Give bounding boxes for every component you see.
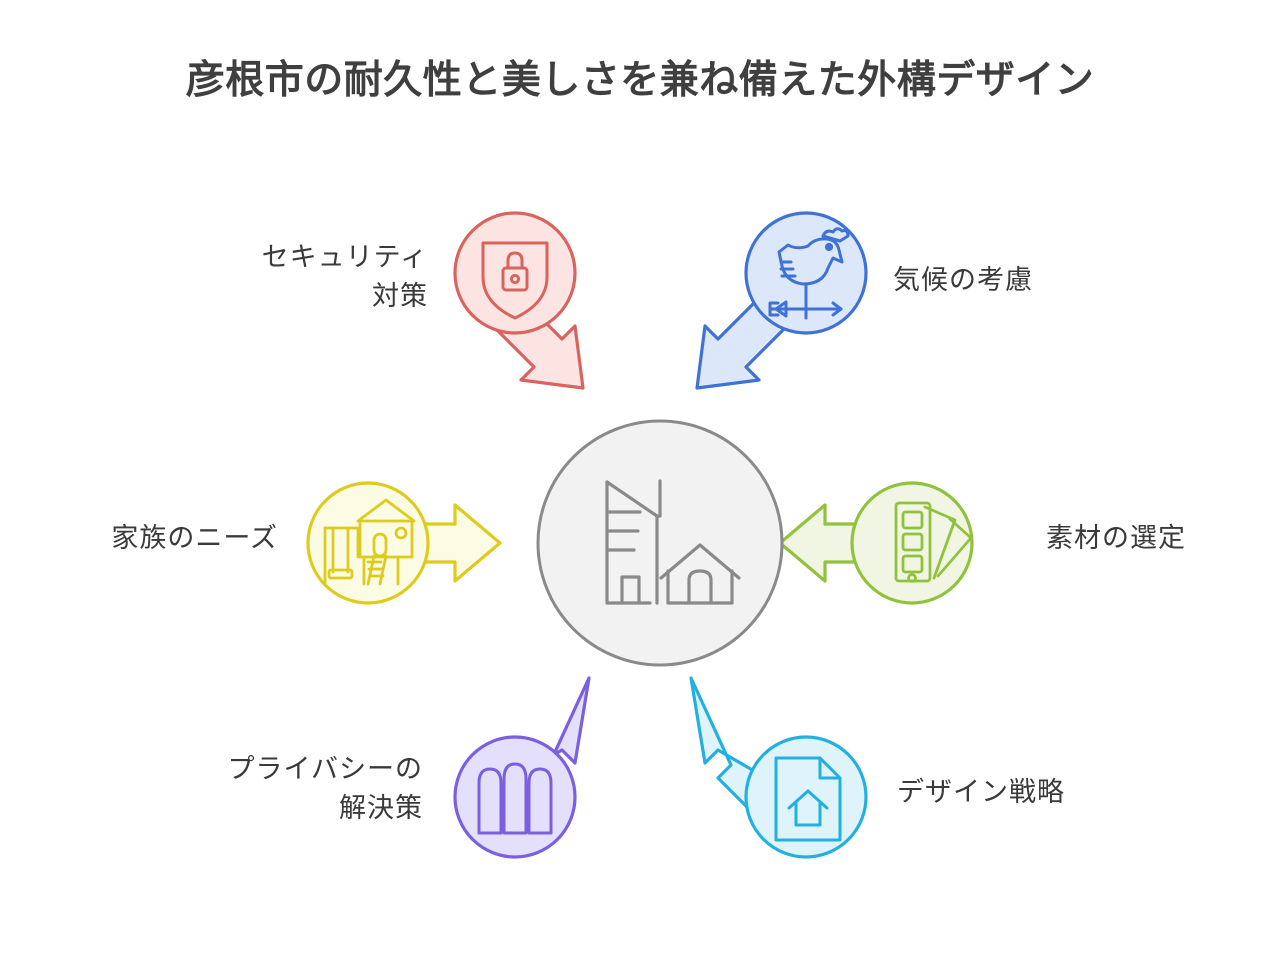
node-label-climate: 気候の考慮: [893, 261, 1223, 300]
node-design[interactable]: [691, 678, 866, 857]
material-circle: [852, 483, 972, 603]
center-hub[interactable]: [538, 421, 782, 665]
node-label-material: 素材の選定: [1046, 519, 1280, 558]
node-label-privacy: プライバシーの 解決策: [120, 750, 423, 828]
center-circle: [538, 421, 782, 665]
security-circle: [455, 213, 575, 333]
node-label-family: 家族のニーズ: [30, 519, 278, 558]
infographic-canvas: 彦根市の耐久性と美しさを兼ね備えた外構デザイン: [0, 0, 1280, 960]
node-label-security: セキュリティ 対策: [118, 238, 428, 316]
node-family[interactable]: [308, 483, 500, 603]
node-privacy[interactable]: [455, 678, 589, 857]
node-material[interactable]: [780, 483, 972, 603]
node-label-design: デザイン戦略: [897, 773, 1187, 812]
node-climate[interactable]: [697, 213, 866, 388]
privacy-circle: [455, 737, 575, 857]
node-security[interactable]: [455, 213, 583, 388]
